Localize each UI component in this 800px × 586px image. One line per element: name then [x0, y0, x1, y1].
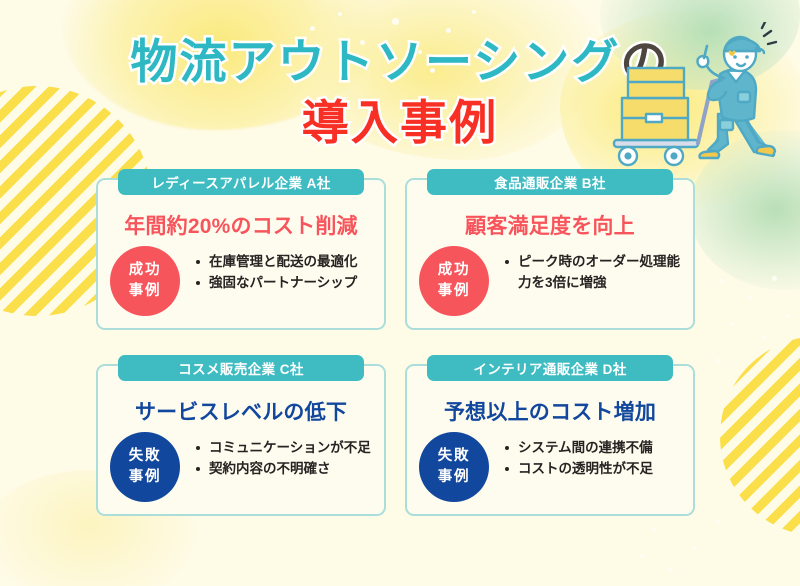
- case-card-body: 失敗 事例 コミュニケーションが不足 契約内容の不明確さ: [110, 432, 374, 502]
- case-card-headline: 年間約20%のコスト削減: [98, 210, 384, 240]
- case-card-body: 成功 事例 ピーク時のオーダー処理能力を3倍に増強: [419, 246, 683, 316]
- result-badge-line-2: 事例: [438, 467, 470, 488]
- case-card-bullet-list: コミュニケーションが不足 契約内容の不明確さ: [194, 432, 371, 480]
- result-badge-line-1: 成功: [438, 260, 470, 281]
- page-title-main: 物流アウトソーシング: [130, 38, 620, 85]
- list-item: コストの透明性が不足: [503, 459, 653, 480]
- result-badge-line-1: 成功: [129, 260, 161, 281]
- case-card-bullet-list: システム間の連携不備 コストの透明性が不足: [503, 432, 653, 480]
- infographic-canvas: 物流アウトソーシングの 導入事例: [0, 0, 800, 586]
- result-badge-failure: 失敗 事例: [419, 432, 489, 502]
- case-card-headline: 顧客満足度を向上: [407, 210, 693, 240]
- case-card-body: 失敗 事例 システム間の連携不備 コストの透明性が不足: [419, 432, 683, 502]
- result-badge-line-2: 事例: [438, 281, 470, 302]
- result-badge-failure: 失敗 事例: [110, 432, 180, 502]
- list-item: ピーク時のオーダー処理能力を3倍に増強: [503, 252, 683, 294]
- list-item: 強固なパートナーシップ: [194, 273, 358, 294]
- result-badge-line-2: 事例: [129, 467, 161, 488]
- case-card-headline: 予想以上のコスト増加: [407, 396, 693, 426]
- case-card-case-c[interactable]: コスメ販売企業 C社 サービスレベルの低下 失敗 事例 コミュニケーションが不足…: [96, 364, 386, 516]
- result-badge-line-2: 事例: [129, 281, 161, 302]
- list-item: コミュニケーションが不足: [194, 438, 371, 459]
- case-card-grid: レディースアパレル企業 A社 年間約20%のコスト削減 成功 事例 在庫管理と配…: [0, 172, 800, 532]
- result-badge-line-1: 失敗: [438, 446, 470, 467]
- case-card-badge: コスメ販売企業 C社: [118, 355, 364, 381]
- case-card-bullet-list: 在庫管理と配送の最適化 強固なパートナーシップ: [194, 246, 358, 294]
- list-item: 契約内容の不明確さ: [194, 459, 371, 480]
- case-card-badge: レディースアパレル企業 A社: [118, 169, 364, 195]
- list-item: システム間の連携不備: [503, 438, 653, 459]
- list-item: 在庫管理と配送の最適化: [194, 252, 358, 273]
- result-badge-success: 成功 事例: [419, 246, 489, 316]
- case-card-bullet-list: ピーク時のオーダー処理能力を3倍に増強: [503, 246, 683, 294]
- case-card-badge: インテリア通販企業 D社: [427, 355, 673, 381]
- case-card-badge: 食品通販企業 B社: [427, 169, 673, 195]
- result-badge-success: 成功 事例: [110, 246, 180, 316]
- case-card-case-a[interactable]: レディースアパレル企業 A社 年間約20%のコスト削減 成功 事例 在庫管理と配…: [96, 178, 386, 330]
- case-card-case-b[interactable]: 食品通販企業 B社 顧客満足度を向上 成功 事例 ピーク時のオーダー処理能力を3…: [405, 178, 695, 330]
- case-card-headline: サービスレベルの低下: [98, 396, 384, 426]
- case-card-case-d[interactable]: インテリア通販企業 D社 予想以上のコスト増加 失敗 事例 システム間の連携不備…: [405, 364, 695, 516]
- case-card-body: 成功 事例 在庫管理と配送の最適化 強固なパートナーシップ: [110, 246, 374, 316]
- result-badge-line-1: 失敗: [129, 446, 161, 467]
- worker-pushing-handcart-icon: [608, 22, 794, 178]
